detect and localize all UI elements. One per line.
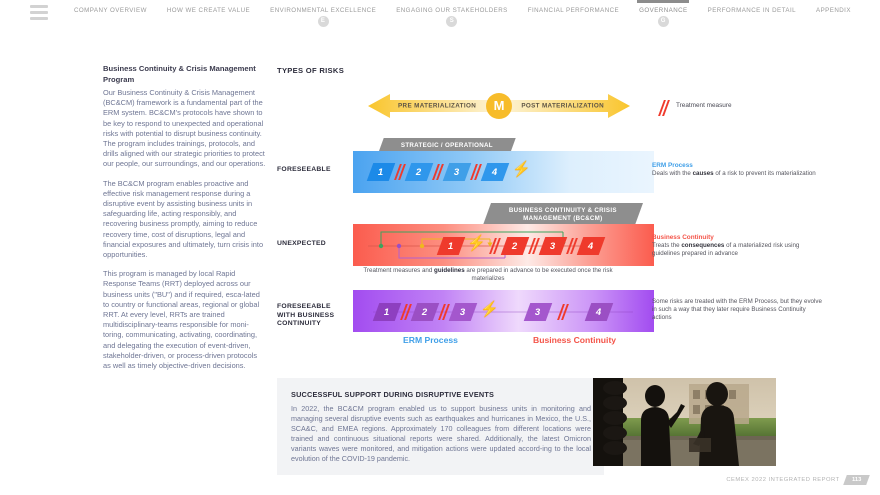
step-chevron-2: 2 — [405, 163, 434, 181]
materialization-circle: M — [486, 93, 512, 119]
left-paragraph-2: The BC&CM program enables proactive and … — [103, 179, 266, 261]
hamburger-bar — [30, 11, 48, 14]
nav-item-company-overview[interactable]: COMPANY OVERVIEW — [64, 0, 157, 14]
treatment-measure-icon — [658, 100, 670, 111]
sidenote-title: Business Continuity — [652, 234, 824, 242]
hamburger-bar — [30, 5, 48, 8]
nav-item-label: COMPANY OVERVIEW — [74, 7, 147, 14]
lightning-bolt-icon: ⚡ — [512, 162, 531, 177]
post-materialization-label: POST MATERIALIZATION — [521, 103, 604, 110]
hamburger-icon[interactable] — [30, 5, 48, 20]
lightning-bolt-icon: ⚡ — [467, 236, 486, 251]
row-label-unexpected: UNEXPECTED — [277, 240, 349, 249]
nav-item-financial-performance[interactable]: FINANCIAL PERFORMANCE — [518, 0, 629, 14]
hamburger-bar — [30, 17, 48, 20]
caption-treatment-guidelines: Treatment measures and guidelines are pr… — [353, 267, 623, 283]
photo-illustration — [593, 378, 776, 466]
nav-badge-e: E — [318, 16, 329, 27]
footer-label-erm-process: ERM Process — [403, 335, 458, 345]
row-label-foreseeable-with-bc: FORESEEABLE WITH BUSINESS CONTINUITY — [277, 303, 349, 329]
bottom-panel: SUCCESSFUL SUPPORT DURING DISRUPTIVE EVE… — [277, 378, 604, 475]
nav-item-label: ENGAGING OUR STAKEHOLDERS — [396, 7, 508, 14]
tag-label: BUSINESS CONTINUITY & CRISIS MANAGEMENT … — [487, 207, 639, 222]
left-text-column: Business Continuity & Crisis Management … — [103, 64, 266, 380]
bottom-panel-title: SUCCESSFUL SUPPORT DURING DISRUPTIVE EVE… — [291, 390, 494, 399]
nav-item-governance[interactable]: GOVERNANCE G — [629, 0, 698, 27]
left-paragraph-3: This program is managed by local Rapid R… — [103, 269, 266, 371]
nav-item-environmental-excellence[interactable]: ENVIRONMENTAL EXCELLENCE E — [260, 0, 386, 27]
pre-materialization-label: PRE MATERIALIZATION — [398, 103, 476, 110]
photo-two-people-silhouette — [593, 378, 776, 466]
materialization-arrow-bar: PRE MATERIALIZATION M POST MATERIALIZATI… — [368, 93, 630, 119]
nav-item-label: APPENDIX — [816, 7, 851, 14]
treatment-measure-icon — [557, 304, 570, 320]
nav-badge-g: G — [658, 16, 669, 27]
nav-item-label: GOVERNANCE — [639, 7, 688, 14]
step-chevron-3: 3 — [443, 163, 472, 181]
sidenote-body: Some risks are treated with the ERM Proc… — [652, 298, 824, 321]
nav-item-label: FINANCIAL PERFORMANCE — [528, 7, 619, 14]
row-label-foreseeable: FORESEEABLE — [277, 166, 349, 175]
footer-page-number: 113 — [843, 475, 870, 485]
nav-items: COMPANY OVERVIEW HOW WE CREATE VALUE ENV… — [64, 0, 861, 27]
top-navigation: COMPANY OVERVIEW HOW WE CREATE VALUE ENV… — [0, 0, 880, 32]
page-footer: CEMEX 2022 INTEGRATED REPORT 113 — [726, 475, 868, 485]
step-chevron-1: 1 — [367, 163, 396, 181]
band-unexpected: 1 ⚡ 2 3 4 — [353, 224, 654, 266]
nav-item-how-we-create-value[interactable]: HOW WE CREATE VALUE — [157, 0, 260, 14]
band-foreseeable-with-bc: 1 2 3 ⚡ 3 4 — [353, 290, 654, 332]
report-page: COMPANY OVERVIEW HOW WE CREATE VALUE ENV… — [0, 0, 880, 495]
nav-item-label: PERFORMANCE IN DETAIL — [708, 7, 796, 14]
legend-treatment-measure: Treatment measure — [658, 100, 732, 111]
nav-item-appendix[interactable]: APPENDIX — [806, 0, 861, 14]
left-column-title: Business Continuity & Crisis Management … — [103, 64, 266, 85]
treatment-measure-icon — [489, 238, 502, 254]
footer-report-label: CEMEX 2022 INTEGRATED REPORT — [726, 477, 839, 483]
sidenote-title: ERM Process — [652, 162, 824, 170]
tag-label: STRATEGIC / OPERATIONAL — [401, 142, 493, 150]
sidenote-body: Deals with the causes of a risk to preve… — [652, 170, 824, 178]
diagram-title: TYPES OF RISKS — [277, 66, 344, 75]
nav-item-label: HOW WE CREATE VALUE — [167, 7, 250, 14]
bottom-panel-body: In 2022, the BC&CM program enabled us to… — [291, 404, 591, 464]
sidenote-erm-process: ERM Process Deals with the causes of a r… — [652, 162, 824, 178]
sidenote-body: Treats the consequences of a materialize… — [652, 242, 824, 258]
left-paragraph-1: Our Business Continuity & Crisis Managem… — [103, 88, 266, 170]
tag-bccm: BUSINESS CONTINUITY & CRISIS MANAGEMENT … — [483, 203, 643, 225]
nav-item-performance-in-detail[interactable]: PERFORMANCE IN DETAIL — [698, 0, 806, 14]
sidenote-foreseeable-with-bc: Some risks are treated with the ERM Proc… — [652, 298, 824, 321]
legend-label: Treatment measure — [676, 102, 732, 109]
nav-item-label: ENVIRONMENTAL EXCELLENCE — [270, 7, 376, 14]
nav-item-engaging-our-stakeholders[interactable]: ENGAGING OUR STAKEHOLDERS S — [386, 0, 518, 27]
step-chevron-4: 4 — [481, 163, 510, 181]
lightning-bolt-icon: ⚡ — [480, 302, 499, 317]
sidenote-business-continuity: Business Continuity Treats the consequen… — [652, 234, 824, 258]
band-foreseeable: 1 2 3 4 ⚡ — [353, 151, 654, 193]
footer-label-business-continuity: Business Continuity — [533, 335, 616, 345]
nav-badge-s: S — [446, 16, 457, 27]
